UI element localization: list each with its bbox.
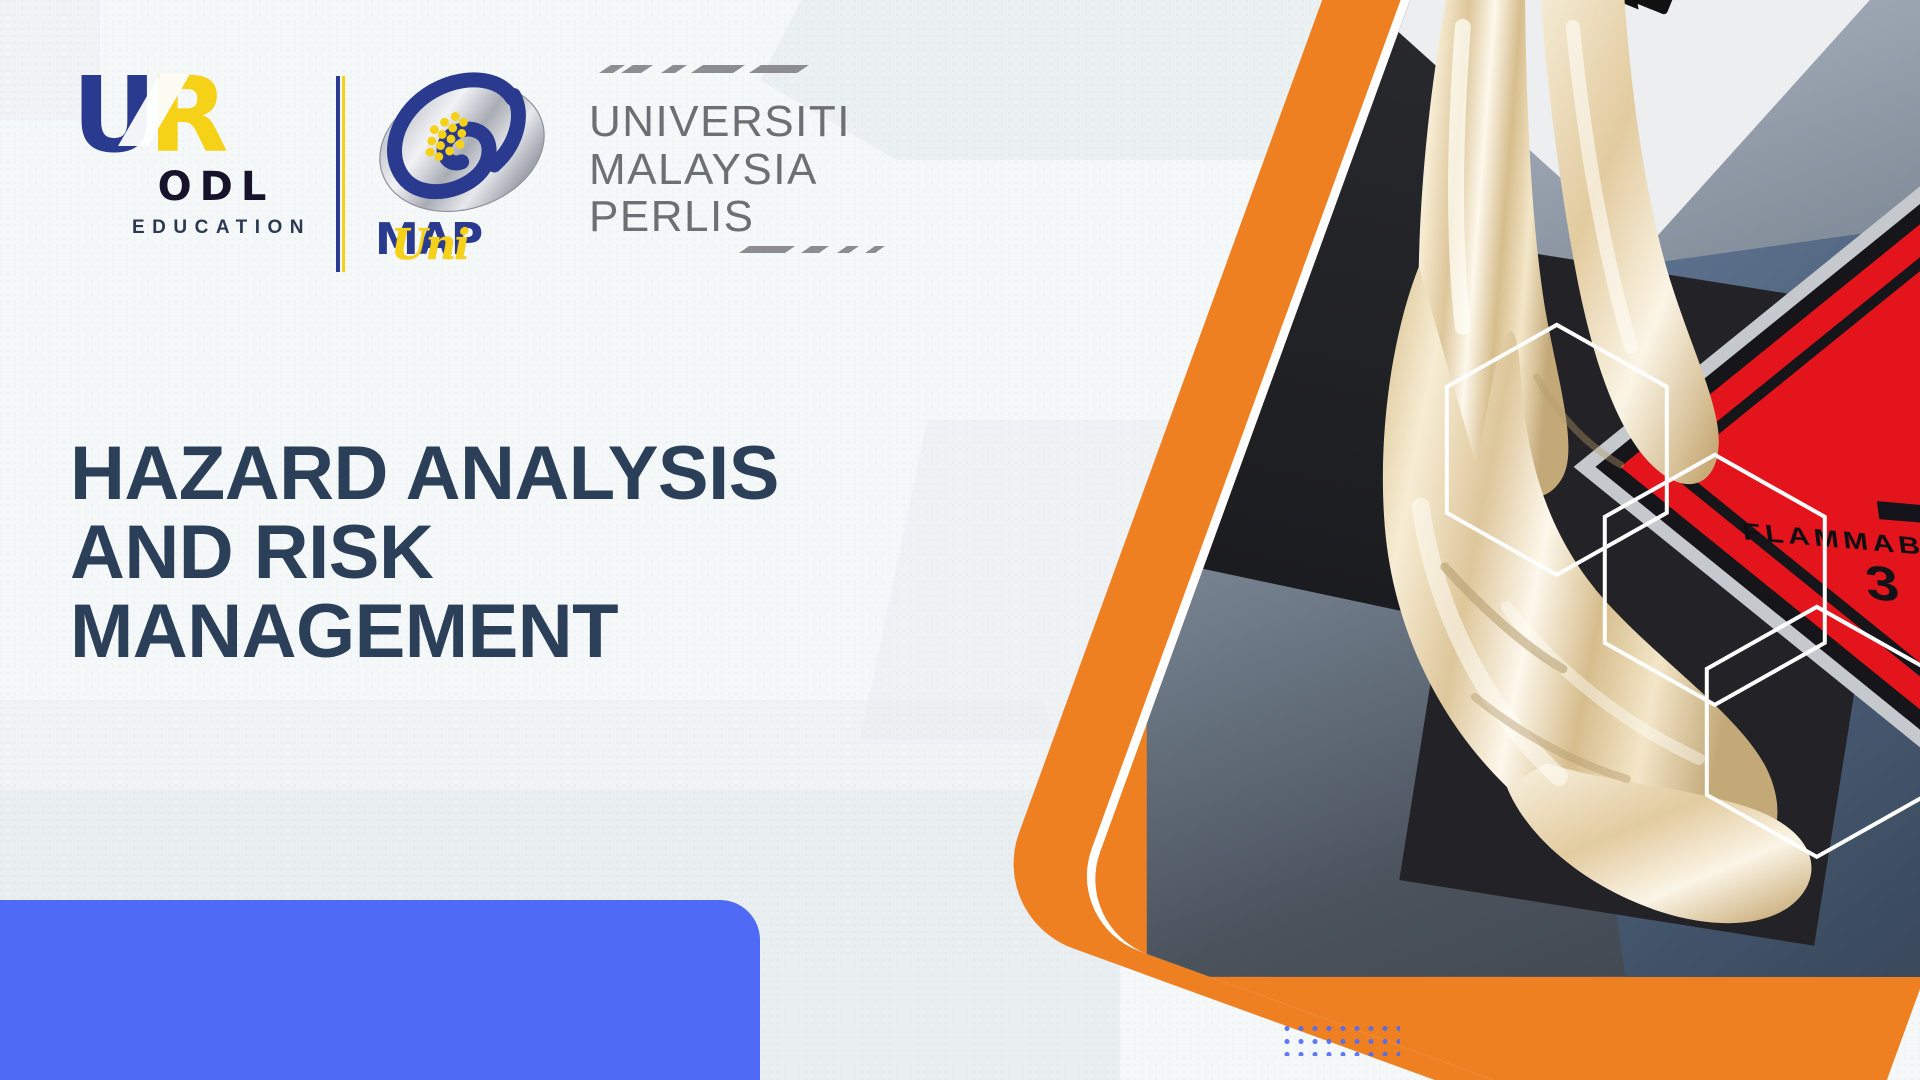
page-title-line-2: AND RISK	[70, 513, 990, 592]
university-name-block: UNIVERSITI MALAYSIA PERLIS	[589, 70, 851, 241]
slide-canvas: U R ODL EDUCATION	[0, 0, 1920, 1080]
hero-artwork: FLAMMABLE LIQUID 3	[1000, 0, 1920, 1080]
logo-divider	[336, 76, 345, 272]
page-title-line-1: HAZARD ANALYSIS	[70, 434, 990, 513]
unimap-spiral-emblem-icon	[375, 70, 550, 220]
unimap-wordmark-script: Uni	[391, 220, 468, 269]
dot-grid-pattern	[1280, 1022, 1400, 1056]
blue-accent-slab	[0, 900, 760, 1080]
ur-letters: U R	[72, 70, 302, 162]
university-line-3: PERLIS	[589, 193, 851, 241]
page-title: HAZARD ANALYSIS AND RISK MANAGEMENT	[70, 434, 990, 671]
logo-row: U R ODL EDUCATION	[72, 70, 851, 272]
ur-education-label: EDUCATION	[72, 217, 302, 239]
university-line-2: MALAYSIA	[589, 146, 851, 194]
divider-bar-yellow	[342, 76, 346, 272]
university-line-1: UNIVERSITI	[589, 98, 851, 146]
hazard-photo: FLAMMABLE LIQUID 3	[1147, 0, 1920, 977]
divider-bar-blue	[336, 76, 340, 272]
page-title-line-3: MANAGEMENT	[70, 592, 990, 671]
unimap-logo: MAP Uni	[375, 70, 565, 265]
placard-class-number: 3	[1834, 552, 1920, 615]
dash-decoration-top-icon	[595, 64, 825, 80]
dash-decoration-bottom-icon	[737, 245, 887, 259]
ur-odl-logo: U R ODL EDUCATION	[72, 70, 302, 239]
unimap-wordmark: MAP Uni	[375, 214, 565, 265]
